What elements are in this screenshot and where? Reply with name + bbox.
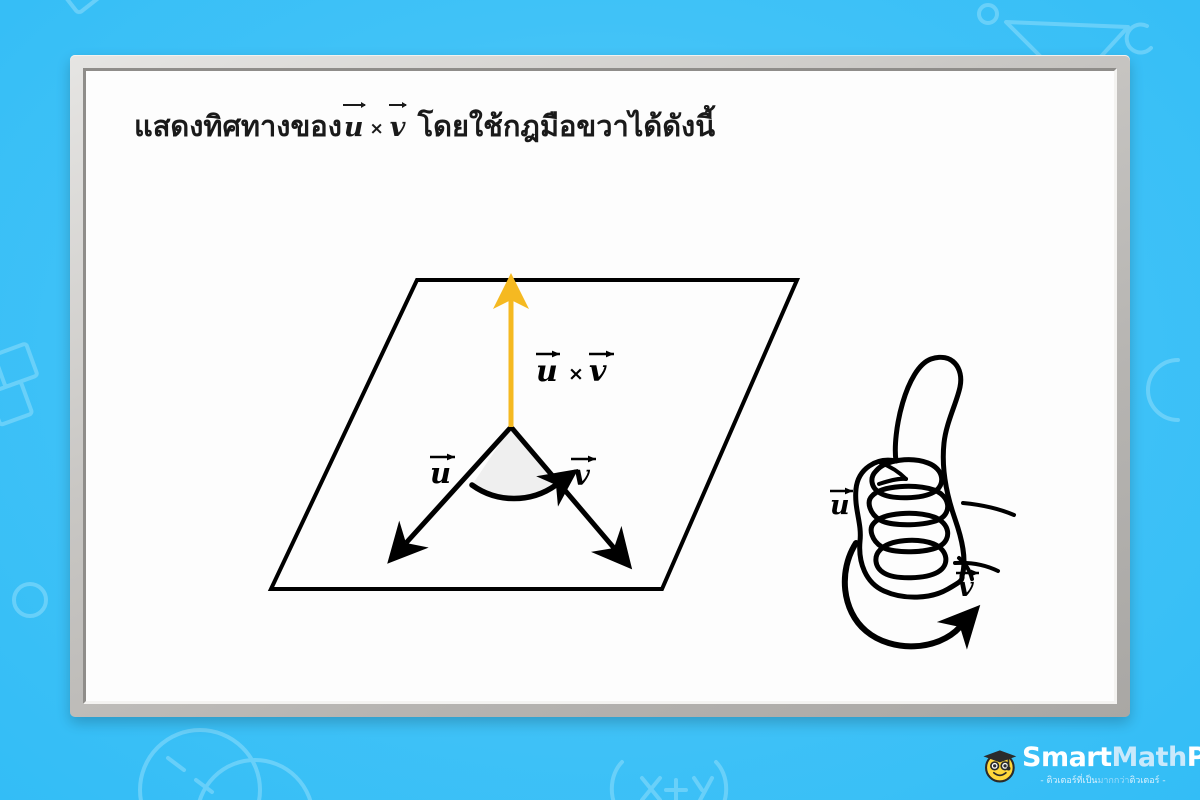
hand-label-v-text: v [958, 572, 974, 603]
label-cross-v-arrowhead-icon [606, 351, 614, 358]
logo-tagline-left: ติวเตอร์ที่เป็น [1047, 776, 1098, 786]
label-cross-product: u × v [536, 351, 614, 389]
hand-label-v: v [956, 570, 979, 603]
hand-crease-2 [879, 479, 906, 484]
ruler-doodle [60, 0, 173, 14]
venn-circles-doodle [140, 730, 313, 800]
arc-doodle-right [1148, 360, 1178, 420]
small-circle-doodle [14, 584, 46, 616]
angle-sector [472, 427, 560, 500]
expression-doodle [612, 762, 726, 800]
whiteboard-surface: แสดงทิศทางของu×v โดยใช้กฎมือขวาได้ดังนี้ [86, 71, 1114, 701]
label-cross-v: v [589, 354, 607, 389]
hand-wrist-line-upper [963, 503, 1014, 515]
hand-label-u: u [830, 488, 853, 521]
logo-tagline: - ติวเตอร์ที่เป็นมากกว่าติวเตอร์ - [1020, 773, 1186, 787]
vector-cross-product-diagram: u × v u [86, 71, 1117, 704]
hand-finger-4 [876, 540, 946, 577]
label-v-text: v [573, 458, 591, 492]
label-u-text: u [430, 456, 451, 490]
whiteboard-bevel: แสดงทิศทางของu×v โดยใช้กฎมือขวาได้ดังนี้ [83, 68, 1117, 704]
logo-tagline-right: ติวเตอร์ [1129, 776, 1159, 786]
right-hand-illustration [856, 357, 1014, 597]
whiteboard-frame: แสดงทิศทางของu×v โดยใช้กฎมือขวาได้ดังนี้ [70, 55, 1130, 717]
slide-canvas: แสดงทิศทางของu×v โดยใช้กฎมือขวาได้ดังนี้ [0, 0, 1200, 800]
label-cross-times: × [568, 363, 584, 385]
label-vector-u: u [430, 454, 455, 490]
brand-logo[interactable]: SmartMathPro - ติวเตอร์ที่เป็นมากกว่าติว… [978, 738, 1186, 790]
logo-pro: Pro [1187, 742, 1200, 773]
hand-label-v-arrowhead-icon [971, 570, 979, 577]
logo-math: Math [1112, 742, 1187, 773]
cube-doodle [0, 343, 49, 425]
label-cross-u: u [536, 354, 558, 389]
logo-mascot-icon [980, 746, 1018, 784]
logo-smart: Smart [1022, 742, 1112, 773]
plane-outline [271, 280, 797, 589]
parallelogram-plane [271, 280, 797, 589]
logo-tagline-highlight: มากกว่า [1097, 776, 1129, 786]
hand-crease-1 [881, 463, 906, 479]
logo-wordmark: SmartMathPro [1022, 744, 1200, 771]
label-vector-v: v [571, 456, 596, 492]
hand-label-u-text: u [830, 490, 850, 521]
label-v-arrowhead-icon [588, 456, 596, 463]
